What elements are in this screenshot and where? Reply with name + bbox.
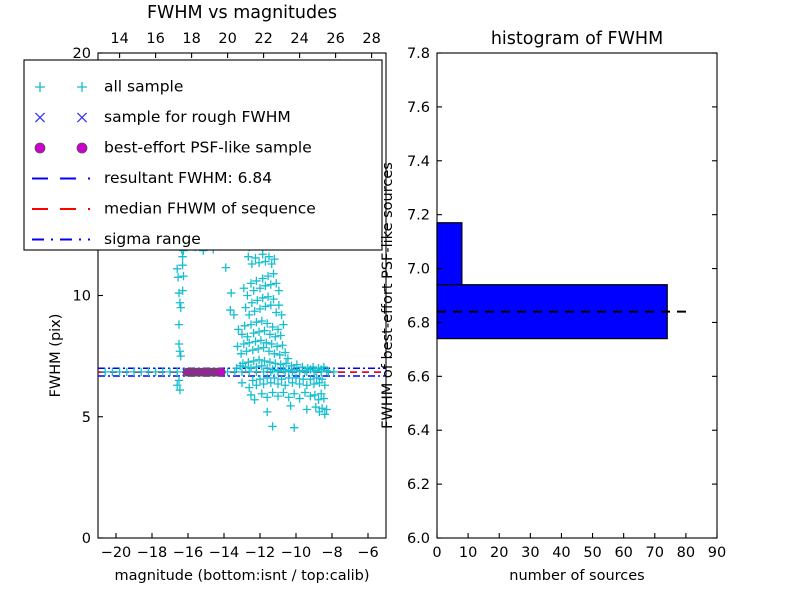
marker-plus bbox=[241, 303, 249, 311]
marker-plus bbox=[299, 375, 307, 383]
marker-plus bbox=[263, 408, 271, 416]
marker-plus bbox=[178, 261, 186, 269]
marker-plus bbox=[295, 380, 303, 388]
marker-plus bbox=[270, 374, 278, 382]
marker-circle bbox=[35, 143, 45, 153]
hist-xtick-label: 90 bbox=[708, 545, 726, 561]
hist-ytick-label: 6.4 bbox=[407, 423, 430, 439]
xtick-label: −12 bbox=[245, 545, 276, 561]
top-xtick-label: 28 bbox=[362, 31, 380, 47]
marker-plus bbox=[244, 253, 252, 261]
ytick-label: 10 bbox=[73, 289, 91, 305]
hist-xtick-label: 60 bbox=[614, 545, 632, 561]
marker-plus bbox=[290, 423, 298, 431]
marker-plus bbox=[258, 390, 266, 398]
marker-plus bbox=[256, 375, 264, 383]
marker-plus bbox=[267, 379, 275, 387]
marker-plus bbox=[250, 396, 258, 404]
hist-ytick-label: 7.8 bbox=[407, 46, 430, 62]
marker-plus bbox=[178, 253, 186, 261]
marker-plus bbox=[267, 280, 275, 288]
marker-plus bbox=[175, 320, 183, 328]
marker-plus bbox=[303, 405, 311, 413]
legend-label-5: sigma range bbox=[104, 230, 201, 248]
xtick-label: −6 bbox=[357, 545, 378, 561]
marker-plus bbox=[301, 388, 309, 396]
marker-plus bbox=[222, 263, 230, 271]
marker-plus bbox=[286, 402, 294, 410]
marker-plus bbox=[248, 260, 256, 268]
marker-plus bbox=[303, 381, 311, 389]
hist-xtick-label: 10 bbox=[459, 545, 477, 561]
marker-plus bbox=[281, 381, 289, 389]
marker-plus bbox=[274, 380, 282, 388]
marker-plus bbox=[274, 392, 282, 400]
marker-plus bbox=[285, 393, 293, 401]
top-xtick-label: 22 bbox=[254, 31, 272, 47]
marker-plus bbox=[272, 279, 280, 287]
ytick-label: 0 bbox=[82, 531, 91, 547]
marker-plus bbox=[166, 368, 174, 376]
marker-circle bbox=[77, 143, 87, 153]
top-xtick-label: 26 bbox=[326, 31, 344, 47]
marker-plus bbox=[234, 325, 242, 333]
marker-plus bbox=[251, 337, 259, 345]
marker-plus bbox=[268, 422, 276, 430]
histogram-ylabel: FWHM of best-effort PSF-like sources bbox=[380, 162, 396, 429]
scatter-title: FWHM vs magnitudes bbox=[147, 3, 337, 23]
marker-plus bbox=[292, 374, 300, 382]
marker-plus bbox=[227, 289, 235, 297]
hist-ytick-label: 6.0 bbox=[407, 531, 430, 547]
legend-label-4: median FHWM of sequence bbox=[104, 200, 316, 218]
marker-plus bbox=[250, 329, 258, 337]
marker-plus bbox=[245, 311, 253, 319]
marker-plus bbox=[173, 265, 181, 273]
marker-plus bbox=[306, 392, 314, 400]
marker-plus bbox=[285, 374, 293, 382]
histogram-xlabel: number of sources bbox=[509, 568, 645, 584]
hist-xtick-label: 80 bbox=[677, 545, 695, 561]
legend-label-0: all sample bbox=[104, 78, 183, 96]
hist-ytick-label: 6.6 bbox=[407, 369, 430, 385]
marker-plus bbox=[279, 388, 287, 396]
marker-plus bbox=[174, 273, 182, 281]
xtick-label: −14 bbox=[209, 545, 240, 561]
top-xtick-label: 24 bbox=[290, 31, 308, 47]
series-best-effort-psf-like-sample bbox=[183, 368, 225, 376]
marker-plus bbox=[275, 301, 283, 309]
marker-plus bbox=[252, 381, 260, 389]
top-xtick-label: 20 bbox=[218, 31, 236, 47]
marker-plus bbox=[176, 347, 184, 355]
figure-canvas: FWHM vs magnitudes−20−18−16−14−12−10−8−6… bbox=[0, 0, 800, 600]
marker-plus bbox=[288, 379, 296, 387]
xtick-label: −8 bbox=[321, 545, 342, 561]
histogram-panel: histogram of FWHM0102030405060708090numb… bbox=[380, 29, 726, 584]
hist-ytick-label: 6.2 bbox=[407, 477, 430, 493]
marker-plus bbox=[175, 340, 183, 348]
series-all-sample bbox=[101, 238, 338, 432]
marker-plus bbox=[238, 379, 246, 387]
hist-ytick-label: 7.6 bbox=[407, 100, 430, 116]
marker-plus bbox=[255, 259, 263, 267]
marker-plus bbox=[177, 352, 185, 360]
marker-plus bbox=[263, 374, 271, 382]
top-xtick-label: 18 bbox=[182, 31, 200, 47]
hist-xtick-label: 30 bbox=[521, 545, 539, 561]
marker-plus bbox=[243, 291, 251, 299]
marker-plus bbox=[249, 376, 257, 384]
hist-ytick-label: 7.4 bbox=[407, 154, 430, 170]
marker-plus bbox=[245, 383, 253, 391]
marker-plus bbox=[176, 299, 184, 307]
histogram-title: histogram of FWHM bbox=[491, 29, 663, 49]
marker-circle bbox=[217, 368, 225, 376]
marker-plus bbox=[241, 322, 249, 330]
hist-xtick-label: 40 bbox=[552, 545, 570, 561]
marker-plus bbox=[245, 339, 253, 347]
hist-ytick-label: 7.2 bbox=[407, 208, 430, 224]
marker-plus bbox=[330, 368, 338, 376]
marker-plus bbox=[279, 320, 287, 328]
hist-xtick-label: 20 bbox=[490, 545, 508, 561]
scatter-data-layer bbox=[98, 238, 386, 432]
marker-plus bbox=[226, 306, 234, 314]
marker-plus bbox=[251, 254, 259, 262]
marker-plus bbox=[249, 346, 257, 354]
hist-ytick-label: 7.0 bbox=[407, 262, 430, 278]
top-xtick-label: 14 bbox=[110, 31, 128, 47]
marker-plus bbox=[290, 390, 298, 398]
marker-plus bbox=[240, 284, 248, 292]
marker-plus bbox=[255, 328, 263, 336]
marker-plus bbox=[322, 405, 330, 413]
legend-label-2: best-effort PSF-like sample bbox=[104, 139, 312, 157]
marker-plus bbox=[295, 394, 303, 402]
marker-plus bbox=[275, 286, 283, 294]
marker-plus bbox=[179, 272, 187, 280]
histogram-bar-0 bbox=[437, 223, 462, 285]
xtick-label: −10 bbox=[281, 545, 312, 561]
ytick-label: 5 bbox=[82, 410, 91, 426]
hist-xtick-label: 50 bbox=[583, 545, 601, 561]
marker-plus bbox=[260, 326, 268, 334]
marker-plus bbox=[247, 391, 255, 399]
scatter-ylabel: FWHM (pix) bbox=[48, 314, 64, 398]
marker-plus bbox=[230, 311, 238, 319]
marker-plus bbox=[177, 303, 185, 311]
legend: all samplesample for rough FWHMbest-effo… bbox=[24, 60, 382, 250]
marker-plus bbox=[259, 380, 267, 388]
top-xtick-label: 16 bbox=[146, 31, 164, 47]
hist-ytick-label: 6.8 bbox=[407, 315, 430, 331]
scatter-xlabel: magnitude (bottom:isnt / top:calib) bbox=[114, 568, 369, 584]
legend-label-1: sample for rough FWHM bbox=[104, 108, 291, 126]
marker-plus bbox=[254, 345, 262, 353]
legend-label-3: resultant FWHM: 6.84 bbox=[104, 169, 272, 187]
marker-plus bbox=[278, 341, 286, 349]
marker-plus bbox=[312, 403, 320, 411]
hist-xtick-label: 0 bbox=[432, 545, 441, 561]
matplotlib-figure: FWHM vs magnitudes−20−18−16−14−12−10−8−6… bbox=[0, 0, 800, 600]
hist-xtick-label: 70 bbox=[646, 545, 664, 561]
marker-plus bbox=[311, 391, 319, 399]
marker-plus bbox=[268, 388, 276, 396]
xtick-label: −16 bbox=[173, 545, 204, 561]
marker-plus bbox=[263, 393, 271, 401]
xtick-label: −20 bbox=[101, 545, 132, 561]
marker-plus bbox=[175, 376, 183, 384]
xtick-label: −18 bbox=[137, 545, 168, 561]
